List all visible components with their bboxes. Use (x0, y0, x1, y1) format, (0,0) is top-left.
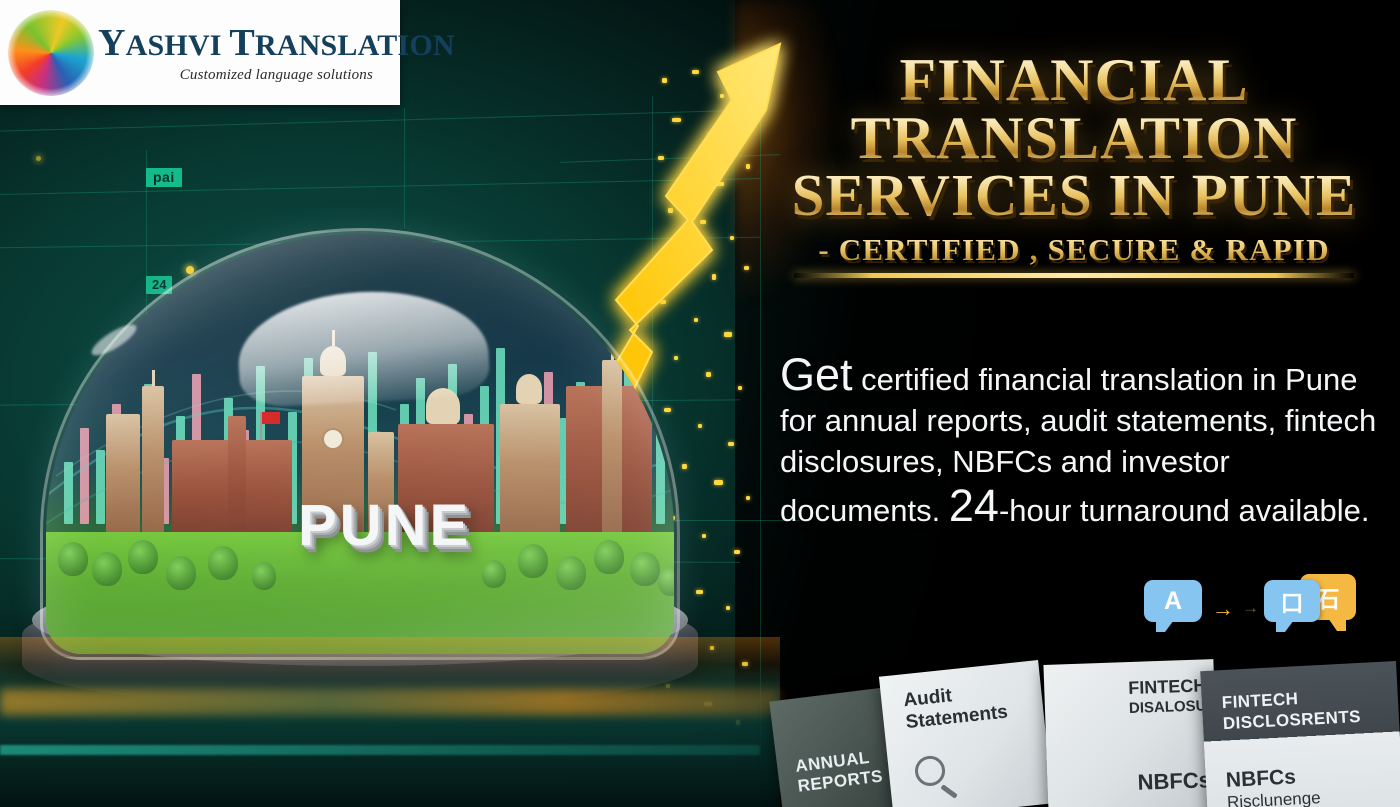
document-fintech-disclosures: FINTECH DISALOSURES NBFCs (1043, 659, 1218, 807)
doc-title-fin2-3: NBFCs Risclunenge (1225, 759, 1400, 807)
headline-block: FINANCIAL TRANSLATION SERVICES IN PUNE -… (748, 52, 1400, 278)
brand-logo[interactable]: YASHVI TRANSLATION Customized language s… (0, 0, 400, 105)
body-number: 24 (949, 480, 999, 531)
pune-label: PUNE (298, 492, 471, 559)
pune-glass-dome: PUNE (10, 222, 710, 692)
source-letter: A (1164, 587, 1182, 616)
brand-name-yashvi: ASHVI (126, 29, 222, 62)
target-language-bubble-blue-icon: 口 (1264, 580, 1320, 622)
translate-arrow-icon: → (1212, 596, 1232, 622)
floor-light-streak (0, 689, 780, 715)
headline-subtitle: - CERTIFIED , SECURE & RAPID (748, 232, 1400, 268)
brand-name: YASHVI TRANSLATION (98, 21, 455, 65)
headline-line-2: TRANSLATION (748, 110, 1400, 168)
brand-initial-y: Y (98, 22, 126, 64)
brand-name-translation: RANSLATION (255, 29, 455, 62)
floor-edge (0, 745, 760, 755)
grid-dot (36, 156, 41, 161)
doc-title-annual: ANNUAL REPORTS (794, 748, 884, 795)
promotional-banner: pai 24 (0, 0, 1400, 807)
doc-title-fin2-4: Risclunenge (1227, 783, 1400, 807)
body-text-2: -hour turnaround available. (999, 493, 1370, 528)
body-lead-word: Get (780, 349, 853, 400)
dome-scene: PUNE (46, 234, 674, 654)
translation-icons: A → → 石 口 (1142, 568, 1392, 654)
reflective-floor (0, 637, 780, 807)
translate-arrow-icon-2: → (1242, 598, 1259, 618)
magnifier-icon (914, 754, 947, 787)
globe-icon (8, 10, 94, 96)
source-language-bubble-icon: A (1144, 580, 1202, 622)
body-paragraph: Get certified financial translation in P… (780, 352, 1390, 532)
document-audit-statements: Audit Statements (879, 660, 1053, 807)
target-char-1: 口 (1281, 584, 1304, 618)
headline-line-3: SERVICES IN PUNE (748, 167, 1400, 224)
document-stack: ANNUAL REPORTS Audit Statements FINTECH … (756, 658, 1400, 807)
brand-initial-t: T (229, 22, 255, 64)
document-fintech-disclosrents: FINTECH DISCLOSRENTS NBFCs Risclunenge (1200, 661, 1400, 807)
chart-badge-pai: pai (146, 168, 182, 187)
brand-tagline: Customized language solutions (98, 67, 455, 84)
brand-text: YASHVI TRANSLATION Customized language s… (98, 21, 455, 84)
headline-line-1: FINANCIAL (748, 52, 1400, 110)
headline-underline (794, 273, 1354, 278)
